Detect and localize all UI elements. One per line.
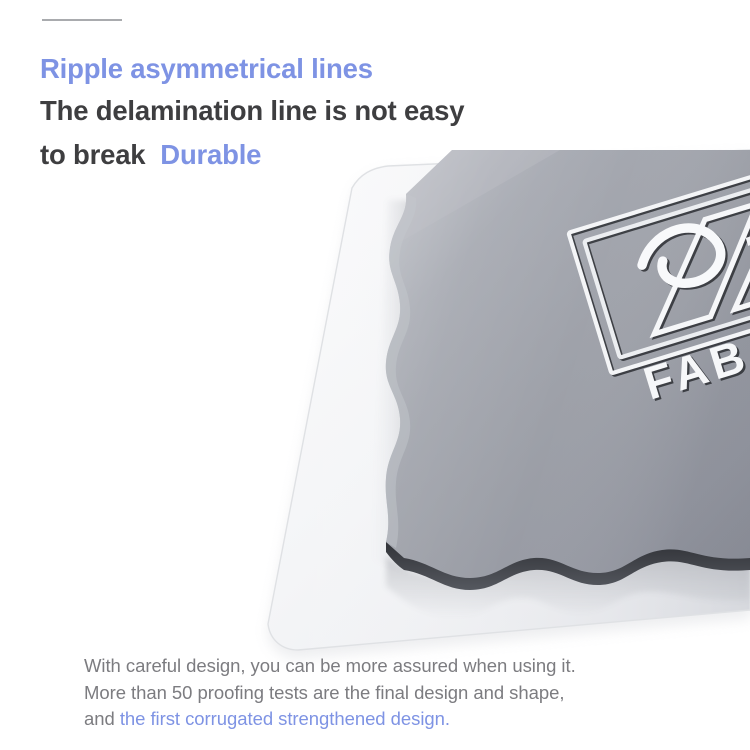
headline-main-block: The delamination line is not easy [40,89,600,133]
headline-main-line-2: to break [40,139,145,170]
caption-emphasis-link: the first corrugated strengthened design… [120,708,450,729]
headline-emphasis-durable: Durable [160,139,261,170]
brand-wordmark: FAB FAB [638,328,750,412]
metal-plate-layer: FAB FAB [386,140,750,578]
embossed-brand-logo: FAB FAB [568,140,750,412]
brand-wordmark-shadow: FAB [640,330,750,411]
headline-main-line-1: The delamination line is not easy [40,95,464,126]
caption-line-2: More than 50 proofing tests are the fina… [84,680,684,707]
caption-line-1: With careful design, you can be more ass… [84,653,684,680]
caption-line-3-row: and the first corrugated strengthened de… [84,706,684,733]
headline-block: Ripple asymmetrical lines The delaminati… [40,49,600,177]
headline-accent-line: Ripple asymmetrical lines [40,49,600,89]
top-divider-rule [42,19,122,21]
backing-sheet-layer [268,150,750,658]
brand-wordmark-face: FAB [638,329,750,410]
product-feature-page: FAB FAB Ripple asymmetrical lines The de… [0,0,750,750]
caption-block: With careful design, you can be more ass… [84,653,684,733]
plate-thickness-edge [386,541,750,590]
headline-main-line-2-row: to break Durable [40,133,600,177]
plate-contact-shadow [372,200,750,618]
caption-line-3-plain: and [84,708,115,729]
